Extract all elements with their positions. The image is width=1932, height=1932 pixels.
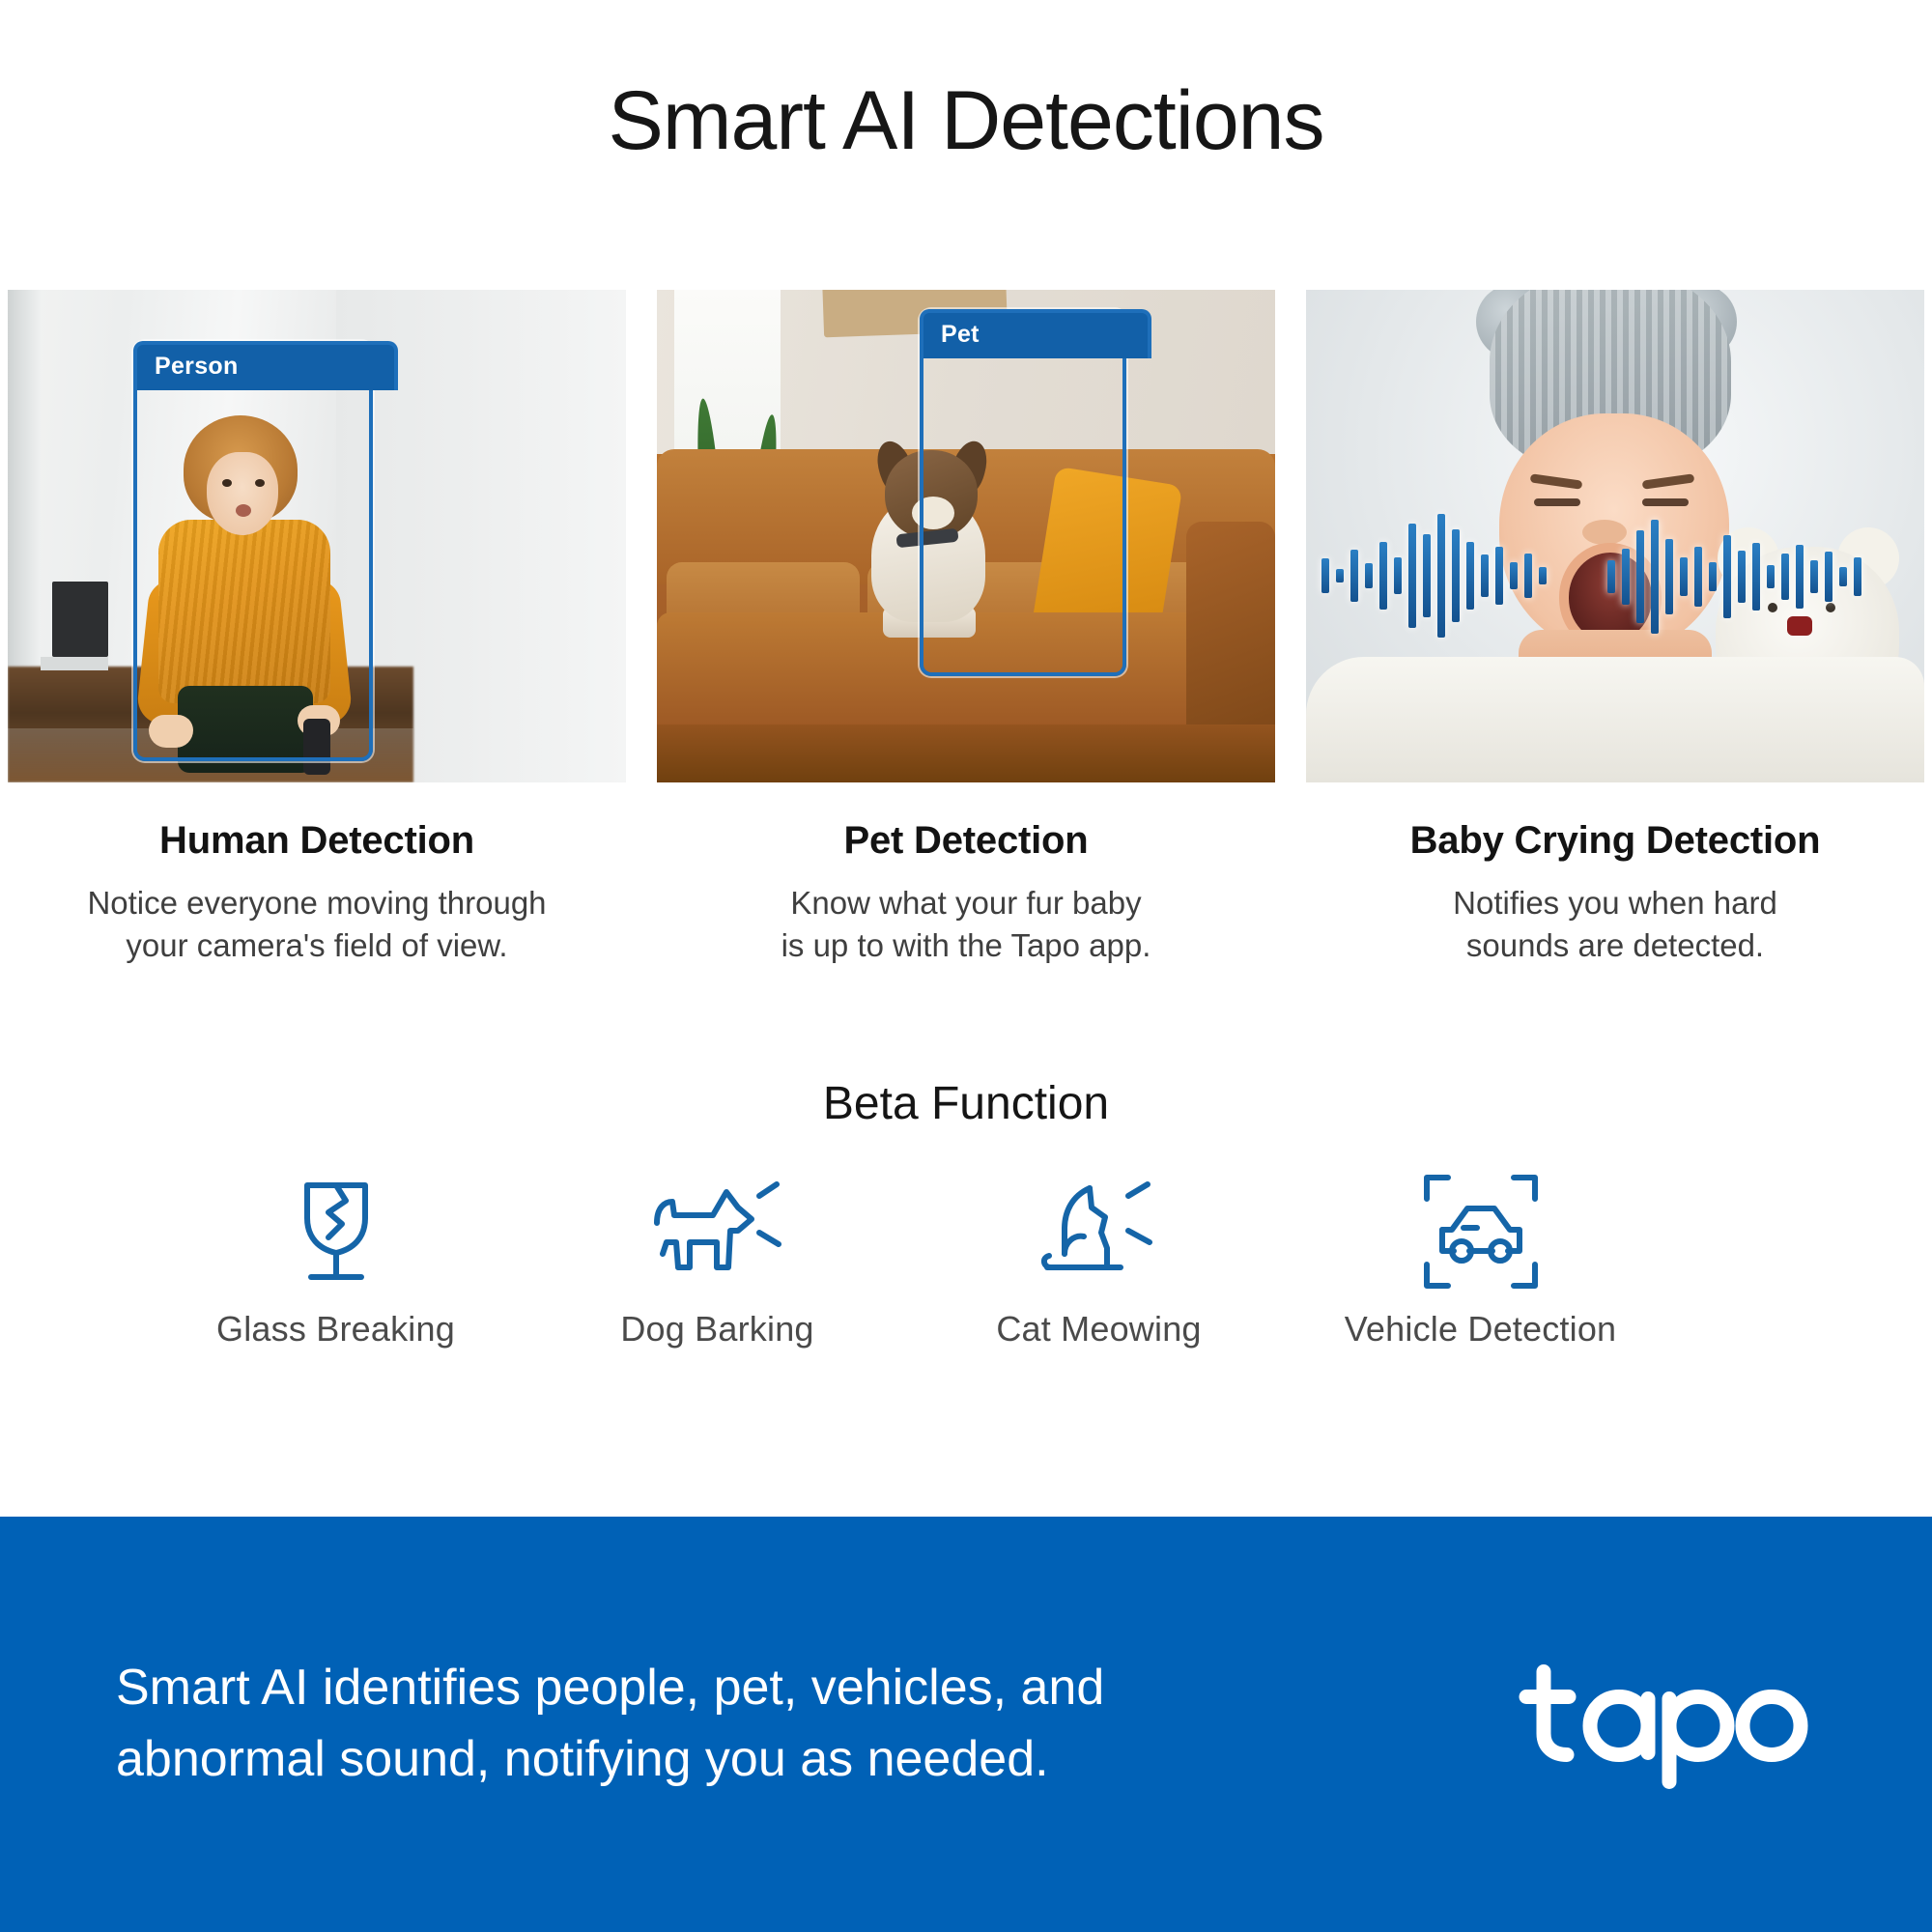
caption-description: Know what your fur baby is up to with th… — [657, 882, 1275, 966]
detection-box-pet: Pet — [920, 309, 1126, 676]
baby-left-eye — [1534, 498, 1580, 506]
beta-function-row: Glass Breaking Dog Barking — [145, 1174, 1787, 1350]
banner-line: abnormal sound, notifying you as needed. — [116, 1724, 1275, 1796]
smart-ai-detections-page: Smart AI Detections — [0, 0, 1932, 1932]
sound-wave-right — [1607, 520, 1861, 634]
feature-card-baby — [1306, 290, 1924, 782]
caption-title: Pet Detection — [657, 819, 1275, 863]
detection-box-person: Person — [133, 341, 373, 761]
couch-base — [657, 724, 1275, 782]
photo-baby-crying — [1306, 290, 1924, 782]
dog-barking-icon — [526, 1174, 908, 1290]
bottom-banner: Smart AI identifies people, pet, vehicle… — [0, 1517, 1932, 1932]
beta-item-glass-breaking: Glass Breaking — [145, 1174, 526, 1350]
tapo-logo — [1519, 1655, 1808, 1795]
detection-box-person-label: Person — [133, 341, 398, 390]
beta-item-dog-barking: Dog Barking — [526, 1174, 908, 1350]
beta-label: Vehicle Detection — [1290, 1309, 1671, 1350]
beta-label: Dog Barking — [526, 1309, 908, 1350]
caption-line: sounds are detected. — [1306, 924, 1924, 967]
banner-text: Smart AI identifies people, pet, vehicle… — [116, 1653, 1275, 1796]
baby-right-eye — [1642, 498, 1689, 506]
caption-pet-detection: Pet Detection Know what your fur baby is… — [657, 819, 1275, 966]
page-title: Smart AI Detections — [0, 75, 1932, 167]
beta-item-cat-meowing: Cat Meowing — [908, 1174, 1290, 1350]
caption-title: Human Detection — [8, 819, 626, 863]
caption-description: Notice everyone moving through your came… — [8, 882, 626, 966]
couch-armrest — [1186, 522, 1275, 744]
photo-toddler-hallway: Person — [8, 290, 626, 782]
feature-card-pet: Pet — [657, 290, 1275, 782]
caption-title: Baby Crying Detection — [1306, 819, 1924, 863]
caption-row: Human Detection Notice everyone moving t… — [8, 819, 1924, 966]
beta-label: Cat Meowing — [908, 1309, 1290, 1350]
beta-item-vehicle-detection: Vehicle Detection — [1290, 1174, 1671, 1350]
caption-line: Notice everyone moving through — [8, 882, 626, 924]
caption-description: Notifies you when hard sounds are detect… — [1306, 882, 1924, 966]
vehicle-detection-icon — [1290, 1174, 1671, 1290]
caption-human-detection: Human Detection Notice everyone moving t… — [8, 819, 626, 966]
caption-baby-crying-detection: Baby Crying Detection Notifies you when … — [1306, 819, 1924, 966]
wall-skirting — [41, 657, 108, 670]
beta-label: Glass Breaking — [145, 1309, 526, 1350]
caption-line: Notifies you when hard — [1306, 882, 1924, 924]
detection-box-pet-label: Pet — [920, 309, 1151, 358]
wall-vent — [52, 582, 108, 657]
caption-line: is up to with the Tapo app. — [657, 924, 1275, 967]
caption-line: your camera's field of view. — [8, 924, 626, 967]
feature-card-human: Person — [8, 290, 626, 782]
baby-blanket — [1306, 657, 1924, 782]
photo-dog-on-couch: Pet — [657, 290, 1275, 782]
cat-meowing-icon — [908, 1174, 1290, 1290]
caption-line: Know what your fur baby — [657, 882, 1275, 924]
sound-wave-left — [1321, 514, 1547, 638]
broken-wine-glass-icon — [145, 1174, 526, 1290]
feature-card-row: Person — [8, 290, 1924, 782]
beta-function-title: Beta Function — [0, 1077, 1932, 1130]
banner-line: Smart AI identifies people, pet, vehicle… — [116, 1653, 1275, 1724]
